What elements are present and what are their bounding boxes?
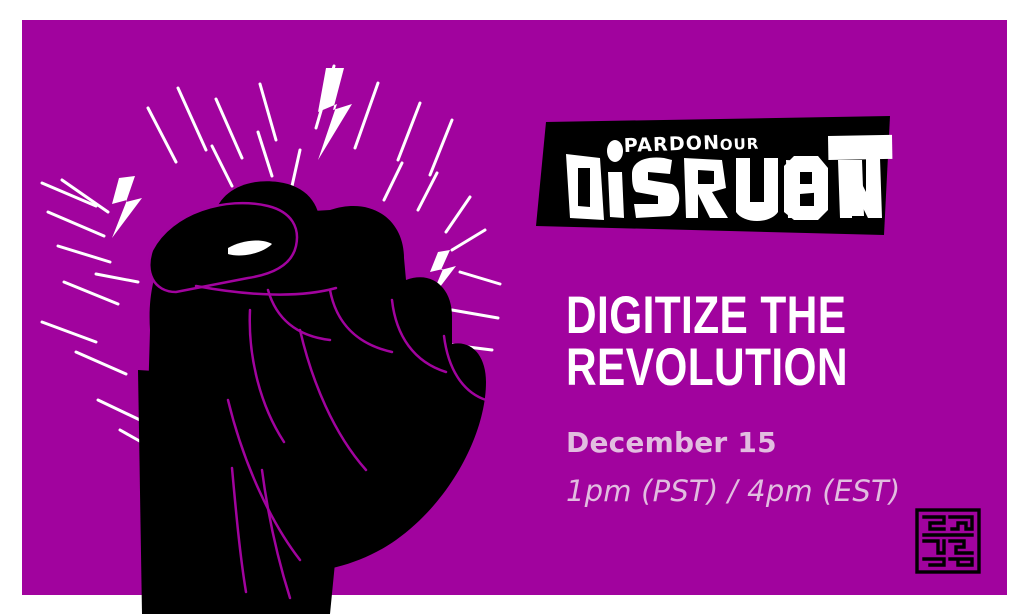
event-date: December 15 bbox=[566, 426, 777, 459]
logo-kicker-pardon: PARDON bbox=[623, 132, 720, 157]
headline-line-2: REVOLUTION bbox=[566, 342, 910, 394]
page-title: DIGITIZE THE REVOLUTION bbox=[566, 290, 910, 394]
poster: PARDON OUR bbox=[0, 0, 1024, 614]
maze-monogram-logo bbox=[914, 507, 982, 575]
pardon-our-disruption-logo: PARDON OUR bbox=[532, 114, 894, 241]
logo-kicker-our: OUR bbox=[720, 135, 760, 154]
headline-line-1: DIGITIZE THE bbox=[566, 286, 846, 345]
event-time: 1pm (PST) / 4pm (EST) bbox=[566, 474, 900, 508]
